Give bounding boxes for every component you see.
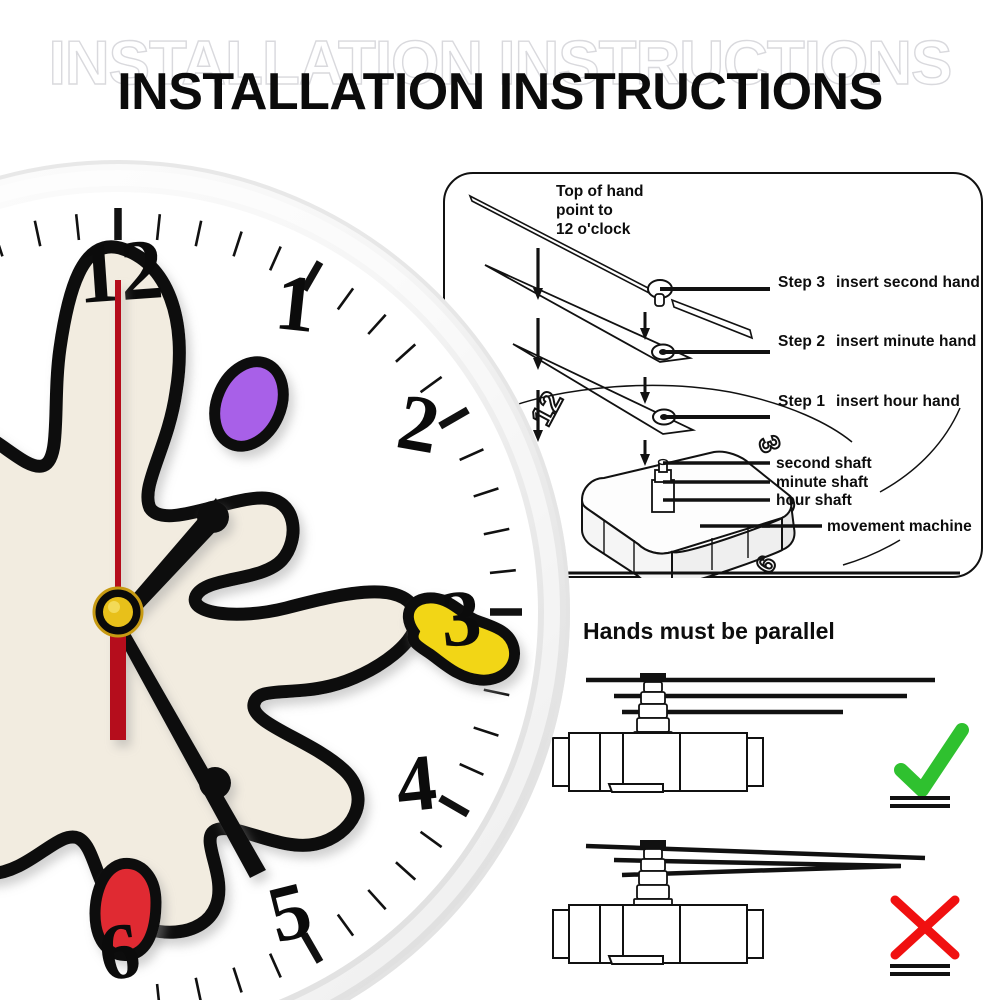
- numeral-3: 3: [438, 574, 484, 665]
- screenshot-root: INSTALLATION INSTRUCTIONS INSTALLATION I…: [0, 0, 1000, 1000]
- center-hub: [94, 588, 142, 636]
- wall-clock: 12 1 2 3 4 5 6: [0, 0, 1000, 1000]
- second-hand: [115, 280, 121, 612]
